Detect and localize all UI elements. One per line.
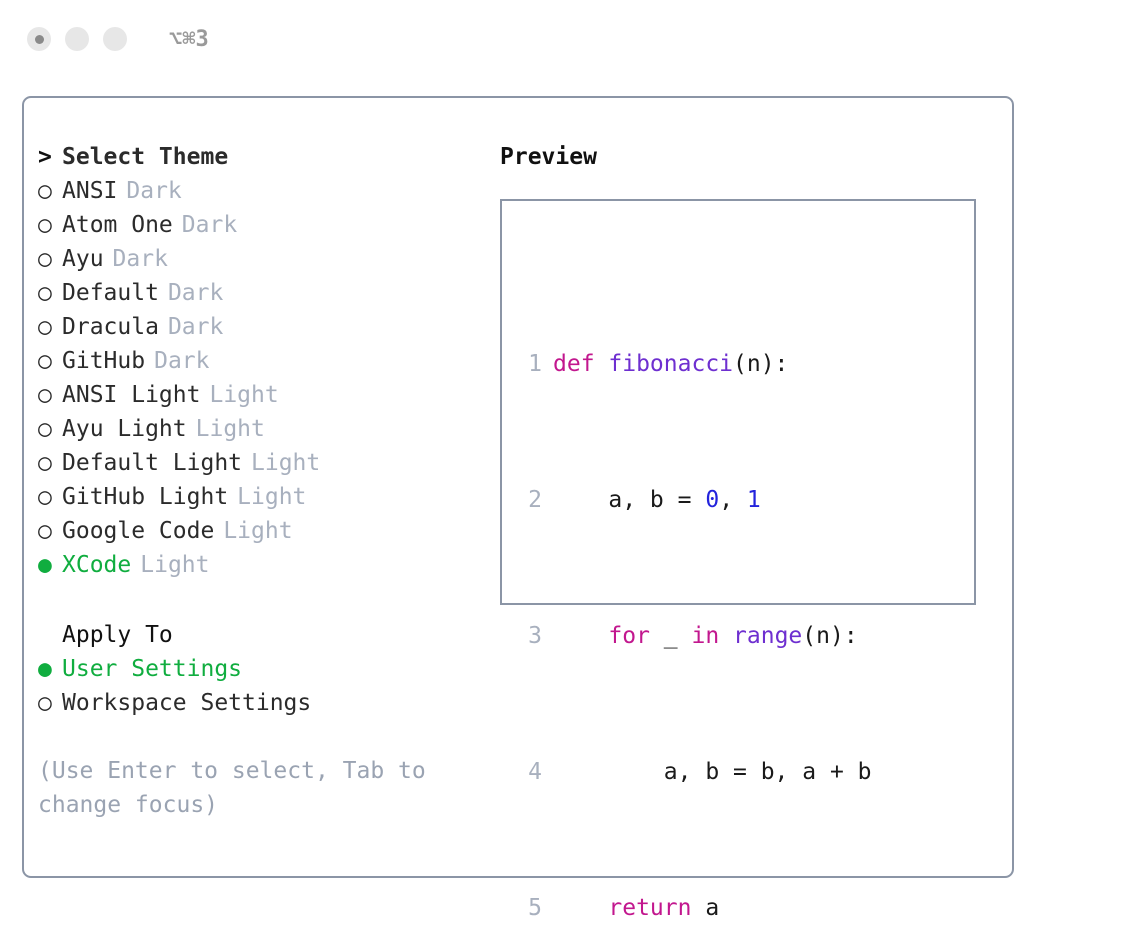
- theme-item-ayu-light[interactable]: ○Ayu LightLight: [38, 412, 498, 446]
- theme-name: Google Code: [62, 514, 214, 548]
- theme-name: GitHub Light: [62, 480, 228, 514]
- code-token-plain: a, b = b, a + b: [553, 755, 872, 789]
- code-token-keyword: return: [608, 891, 691, 925]
- theme-variant-tag: Dark: [126, 174, 181, 208]
- theme-item-ansi-light[interactable]: ○ANSI LightLight: [38, 378, 498, 412]
- code-token-number: 1: [747, 483, 761, 517]
- title-bar: ⌥⌘3: [0, 0, 1140, 78]
- prompt-caret-icon: >: [38, 140, 62, 174]
- section-spacer: [38, 582, 498, 618]
- theme-item-xcode-light[interactable]: ●XCodeLight: [38, 548, 498, 582]
- theme-variant-tag: Light: [196, 412, 265, 446]
- code-token-function: fibonacci: [608, 347, 733, 381]
- apply-to-heading: ○Apply To: [38, 618, 498, 652]
- radio-unselected-icon[interactable]: ○: [38, 310, 62, 344]
- radio-unselected-icon[interactable]: ○: [38, 686, 62, 720]
- theme-name: Default Light: [62, 446, 242, 480]
- line-number: 4: [516, 755, 542, 789]
- code-token-keyword: in: [691, 619, 719, 653]
- code-token-keyword: for: [608, 619, 650, 653]
- theme-variant-tag: Dark: [154, 344, 209, 378]
- theme-item-github-light[interactable]: ○GitHub LightLight: [38, 480, 498, 514]
- radio-unselected-icon[interactable]: ○: [38, 480, 62, 514]
- radio-unselected-icon[interactable]: ○: [38, 412, 62, 446]
- line-number: 2: [516, 483, 542, 517]
- radio-unselected-icon[interactable]: ○: [38, 446, 62, 480]
- theme-variant-tag: Dark: [168, 276, 223, 310]
- theme-name: Atom One: [62, 208, 173, 242]
- code-line: 4 a, b = b, a + b: [516, 755, 899, 789]
- radio-selected-icon[interactable]: ●: [38, 548, 62, 582]
- theme-item-default-dark[interactable]: ○DefaultDark: [38, 276, 498, 310]
- radio-unselected-icon[interactable]: ○: [38, 208, 62, 242]
- theme-variant-tag: Light: [209, 378, 278, 412]
- apply-to-option-label: User Settings: [62, 652, 242, 686]
- radio-unselected-icon[interactable]: ○: [38, 514, 62, 548]
- code-token-plain: a, b =: [553, 483, 705, 517]
- code-token-plain: (n):: [733, 347, 788, 381]
- select-theme-heading: >Select Theme: [38, 140, 498, 174]
- theme-variant-tag: Light: [237, 480, 306, 514]
- theme-variant-tag: Dark: [182, 208, 237, 242]
- code-token-plain: [553, 619, 608, 653]
- code-token-function: range: [733, 619, 802, 653]
- code-token-plain: ,: [719, 483, 747, 517]
- code-token-plain: (n):: [802, 619, 857, 653]
- close-button-dot: [35, 35, 44, 44]
- code-token-number: 0: [705, 483, 719, 517]
- theme-item-ansi-dark[interactable]: ○ANSIDark: [38, 174, 498, 208]
- radio-unselected-icon[interactable]: ○: [38, 344, 62, 378]
- preview-box: 1def fibonacci(n): 2 a, b = 0, 1 3 for _…: [500, 199, 976, 605]
- code-token-keyword: def: [553, 347, 608, 381]
- keyboard-hint-text: (Use Enter to select, Tab to change focu…: [38, 754, 458, 822]
- radio-unselected-icon[interactable]: ○: [38, 276, 62, 310]
- code-token-plain: _: [650, 619, 692, 653]
- code-token-plain: [719, 619, 733, 653]
- app-window: ⌥⌘3 >Select Theme ○ANSIDark ○Atom OneDar…: [0, 0, 1140, 934]
- theme-item-atom-one-dark[interactable]: ○Atom OneDark: [38, 208, 498, 242]
- theme-name: GitHub: [62, 344, 145, 378]
- theme-name: Ayu: [62, 242, 104, 276]
- theme-variant-tag: Dark: [113, 242, 168, 276]
- select-theme-heading-label: Select Theme: [62, 140, 228, 174]
- theme-item-dracula-dark[interactable]: ○DraculaDark: [38, 310, 498, 344]
- theme-name: Default: [62, 276, 159, 310]
- theme-item-google-code-light[interactable]: ○Google CodeLight: [38, 514, 498, 548]
- maximize-button[interactable]: [103, 27, 127, 51]
- theme-selection-column: >Select Theme ○ANSIDark ○Atom OneDark ○A…: [38, 140, 498, 822]
- preview-title: Preview: [500, 140, 1000, 174]
- code-token-plain: a: [691, 891, 719, 925]
- apply-to-user-settings[interactable]: ●User Settings: [38, 652, 498, 686]
- preview-column: Preview 1def fibonacci(n): 2 a, b = 0, 1…: [500, 140, 1000, 605]
- main-panel: >Select Theme ○ANSIDark ○Atom OneDark ○A…: [22, 96, 1014, 878]
- code-token-plain: [553, 891, 608, 925]
- code-line: 2 a, b = 0, 1: [516, 483, 899, 517]
- theme-variant-tag: Dark: [168, 310, 223, 344]
- radio-unselected-icon[interactable]: ○: [38, 174, 62, 208]
- theme-item-github-dark[interactable]: ○GitHubDark: [38, 344, 498, 378]
- theme-item-ayu-dark[interactable]: ○AyuDark: [38, 242, 498, 276]
- theme-name: ANSI: [62, 174, 117, 208]
- theme-variant-tag: Light: [140, 548, 209, 582]
- theme-item-default-light[interactable]: ○Default LightLight: [38, 446, 498, 480]
- code-line: 3 for _ in range(n):: [516, 619, 899, 653]
- line-number: 5: [516, 891, 542, 925]
- code-line: 1def fibonacci(n):: [516, 347, 899, 381]
- marker-placeholder-icon: ○: [38, 618, 62, 652]
- minimize-button[interactable]: [65, 27, 89, 51]
- traffic-light-group: [27, 27, 127, 51]
- apply-to-option-label: Workspace Settings: [62, 686, 311, 720]
- radio-selected-icon[interactable]: ●: [38, 652, 62, 686]
- theme-name: ANSI Light: [62, 378, 200, 412]
- theme-name: XCode: [62, 548, 131, 582]
- radio-unselected-icon[interactable]: ○: [38, 378, 62, 412]
- close-button[interactable]: [27, 27, 51, 51]
- radio-unselected-icon[interactable]: ○: [38, 242, 62, 276]
- line-number: 3: [516, 619, 542, 653]
- theme-name: Ayu Light: [62, 412, 187, 446]
- keyboard-shortcut-label: ⌥⌘3: [169, 27, 209, 52]
- theme-variant-tag: Light: [223, 514, 292, 548]
- theme-variant-tag: Light: [251, 446, 320, 480]
- theme-name: Dracula: [62, 310, 159, 344]
- preview-code: 1def fibonacci(n): 2 a, b = 0, 1 3 for _…: [516, 245, 899, 934]
- line-number: 1: [516, 347, 542, 381]
- apply-to-workspace-settings[interactable]: ○Workspace Settings: [38, 686, 498, 720]
- apply-to-heading-label: Apply To: [62, 618, 173, 652]
- code-line: 5 return a: [516, 891, 899, 925]
